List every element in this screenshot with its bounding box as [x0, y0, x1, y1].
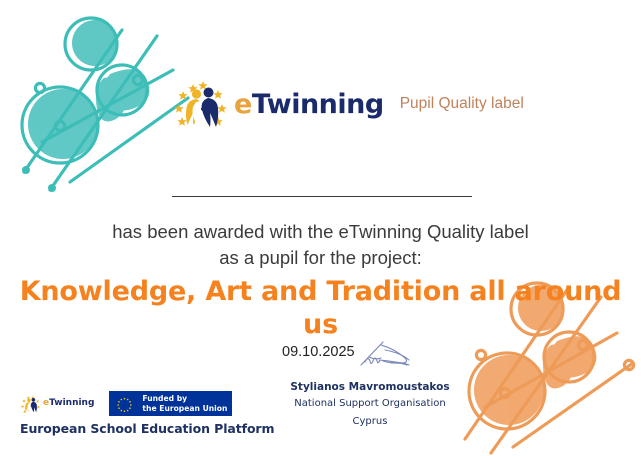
- brand-rest: Twinning: [252, 89, 384, 120]
- eu-funding-line-2: the European Union: [142, 404, 227, 414]
- european-union-flag-icon: [112, 395, 137, 412]
- signature-block: 09.10.2025 Stylianos Mavromoustakos Nati…: [255, 344, 485, 430]
- eu-funding-badge: Funded by the European Union: [109, 391, 232, 416]
- brand-e: e: [234, 89, 252, 120]
- footer-brand-rest: Twinning: [49, 398, 94, 408]
- footer-etwinning-wordmark: eTwinning: [43, 399, 94, 408]
- eu-funding-line-1: Funded by: [142, 394, 227, 404]
- footer-logo-row: eTwinning: [20, 391, 232, 416]
- etwinning-wordmark: eTwinning: [234, 91, 384, 118]
- eu-funding-text: Funded by the European Union: [142, 394, 227, 413]
- award-line-1: has been awarded with the eTwinning Qual…: [0, 219, 641, 245]
- certificate-page: eTwinning Pupil Quality label has been a…: [0, 0, 641, 456]
- etwinning-logo-icon: [172, 78, 232, 130]
- etwinning-logo-icon-small: [20, 394, 42, 414]
- award-line-2: as a pupil for the project:: [0, 245, 641, 271]
- platform-name: European School Education Platform: [20, 421, 274, 436]
- award-statement: has been awarded with the eTwinning Qual…: [0, 219, 641, 270]
- footer-etwinning-logo: eTwinning: [20, 394, 94, 414]
- certificate-header: eTwinning Pupil Quality label: [172, 78, 524, 130]
- handwritten-signature-icon: [359, 340, 431, 376]
- issue-date: 09.10.2025: [282, 344, 355, 360]
- pupil-quality-label-text: Pupil Quality label: [400, 96, 524, 112]
- project-title: Knowledge, Art and Tradition all around …: [18, 276, 623, 342]
- date-and-signature-row: 09.10.2025: [255, 344, 485, 374]
- signatory-organisation: National Support Organisation: [255, 395, 485, 413]
- signatory-country: Cyprus: [255, 413, 485, 431]
- signatory-name: Stylianos Mavromoustakos: [255, 379, 485, 395]
- recipient-name-rule: [172, 196, 472, 197]
